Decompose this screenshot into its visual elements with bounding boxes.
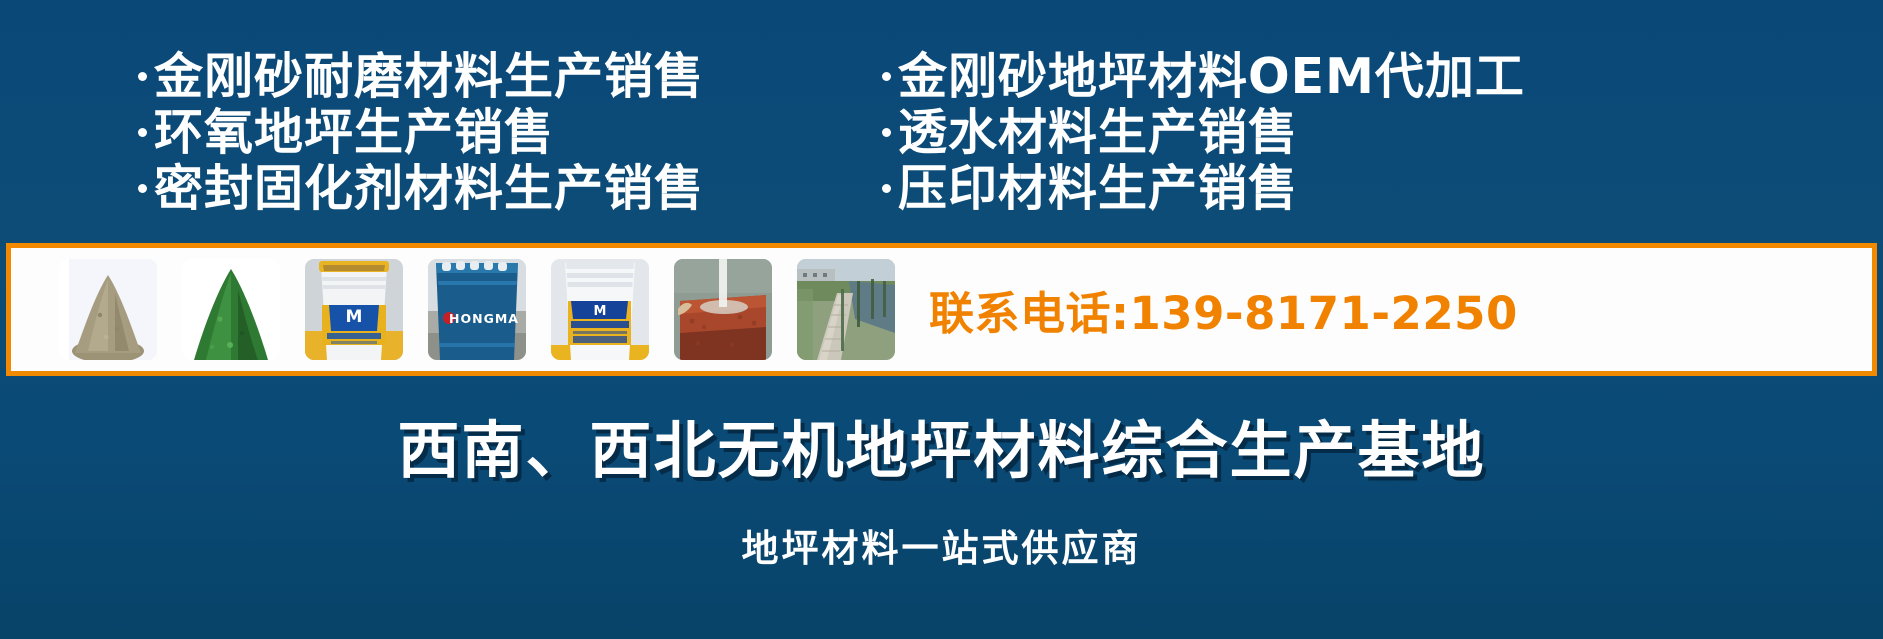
emery-powder-icon (59, 259, 157, 360)
svg-text:HONGMA: HONGMA (449, 311, 519, 326)
sub-headline: 地坪材料一站式供应商 (742, 518, 1142, 572)
product-strip: M (6, 243, 1877, 376)
advertising-banner: 金刚砂耐磨材料生产销售 环氧地坪生产销售 密封固化剂材料生产销售 金刚砂地坪材料… (0, 0, 1883, 639)
bullet-column-right: 金刚砂地坪材料OEM代加工 透水材料生产销售 压印材料生产销售 (860, 30, 1883, 235)
bullet-dot-icon (138, 128, 147, 137)
bullet-column-left: 金刚砂耐磨材料生产销售 环氧地坪生产销售 密封固化剂材料生产销售 (0, 30, 860, 235)
product-thumb-permeable-pavement-path (797, 259, 895, 360)
main-headline: 西南、西北无机地坪材料综合生产基地 (397, 400, 1485, 490)
bullet-dot-icon (138, 184, 147, 193)
product-thumb-emery-wear-resistant-powder (59, 259, 157, 360)
bullet-item: 透水材料生产销售 (882, 105, 1883, 161)
hongma-drum-icon: HONGMA (428, 259, 526, 360)
svg-text:M: M (594, 304, 607, 319)
svg-text:M: M (346, 307, 363, 327)
bullet-label: 透水材料生产销售 (898, 105, 1298, 161)
bullet-item: 压印材料生产销售 (882, 161, 1883, 217)
bullet-label: 环氧地坪生产销售 (154, 105, 554, 161)
epoxy-bucket-icon: M (551, 259, 649, 360)
product-thumbnail-list: M (11, 248, 895, 371)
permeable-concrete-icon (674, 259, 772, 360)
pavement-path-icon (797, 259, 895, 360)
bullet-dot-icon (882, 72, 891, 81)
product-thumb-green-floor-powder (182, 259, 280, 360)
bullet-dot-icon (882, 128, 891, 137)
sealer-bucket-icon: M (305, 259, 403, 360)
footer-headline-area: 西南、西北无机地坪材料综合生产基地 地坪材料一站式供应商 (0, 378, 1883, 639)
bullet-dot-icon (138, 72, 147, 81)
bullet-dot-icon (882, 184, 891, 193)
bullet-label: 金刚砂耐磨材料生产销售 (154, 49, 704, 105)
bullet-item: 环氧地坪生产销售 (138, 105, 860, 161)
bullet-item: 密封固化剂材料生产销售 (138, 161, 860, 217)
bullet-label: 密封固化剂材料生产销售 (154, 161, 704, 217)
bullet-item: 金刚砂地坪材料OEM代加工 (882, 49, 1883, 105)
green-powder-icon (182, 259, 280, 360)
product-thumb-permeable-concrete-sample (674, 259, 772, 360)
bullet-item: 金刚砂耐磨材料生产销售 (138, 49, 860, 105)
contact-phone[interactable]: 联系电话:139-8171-2250 (929, 277, 1518, 342)
bullet-label: 压印材料生产销售 (898, 161, 1298, 217)
product-thumb-hongma-blue-drum: HONGMA (428, 259, 526, 360)
product-thumb-concrete-sealer-bucket: M (305, 259, 403, 360)
product-thumb-epoxy-floor-coating-bucket: M (551, 259, 649, 360)
bullet-label: 金刚砂地坪材料OEM代加工 (898, 49, 1525, 105)
service-bullets: 金刚砂耐磨材料生产销售 环氧地坪生产销售 密封固化剂材料生产销售 金刚砂地坪材料… (0, 30, 1883, 235)
